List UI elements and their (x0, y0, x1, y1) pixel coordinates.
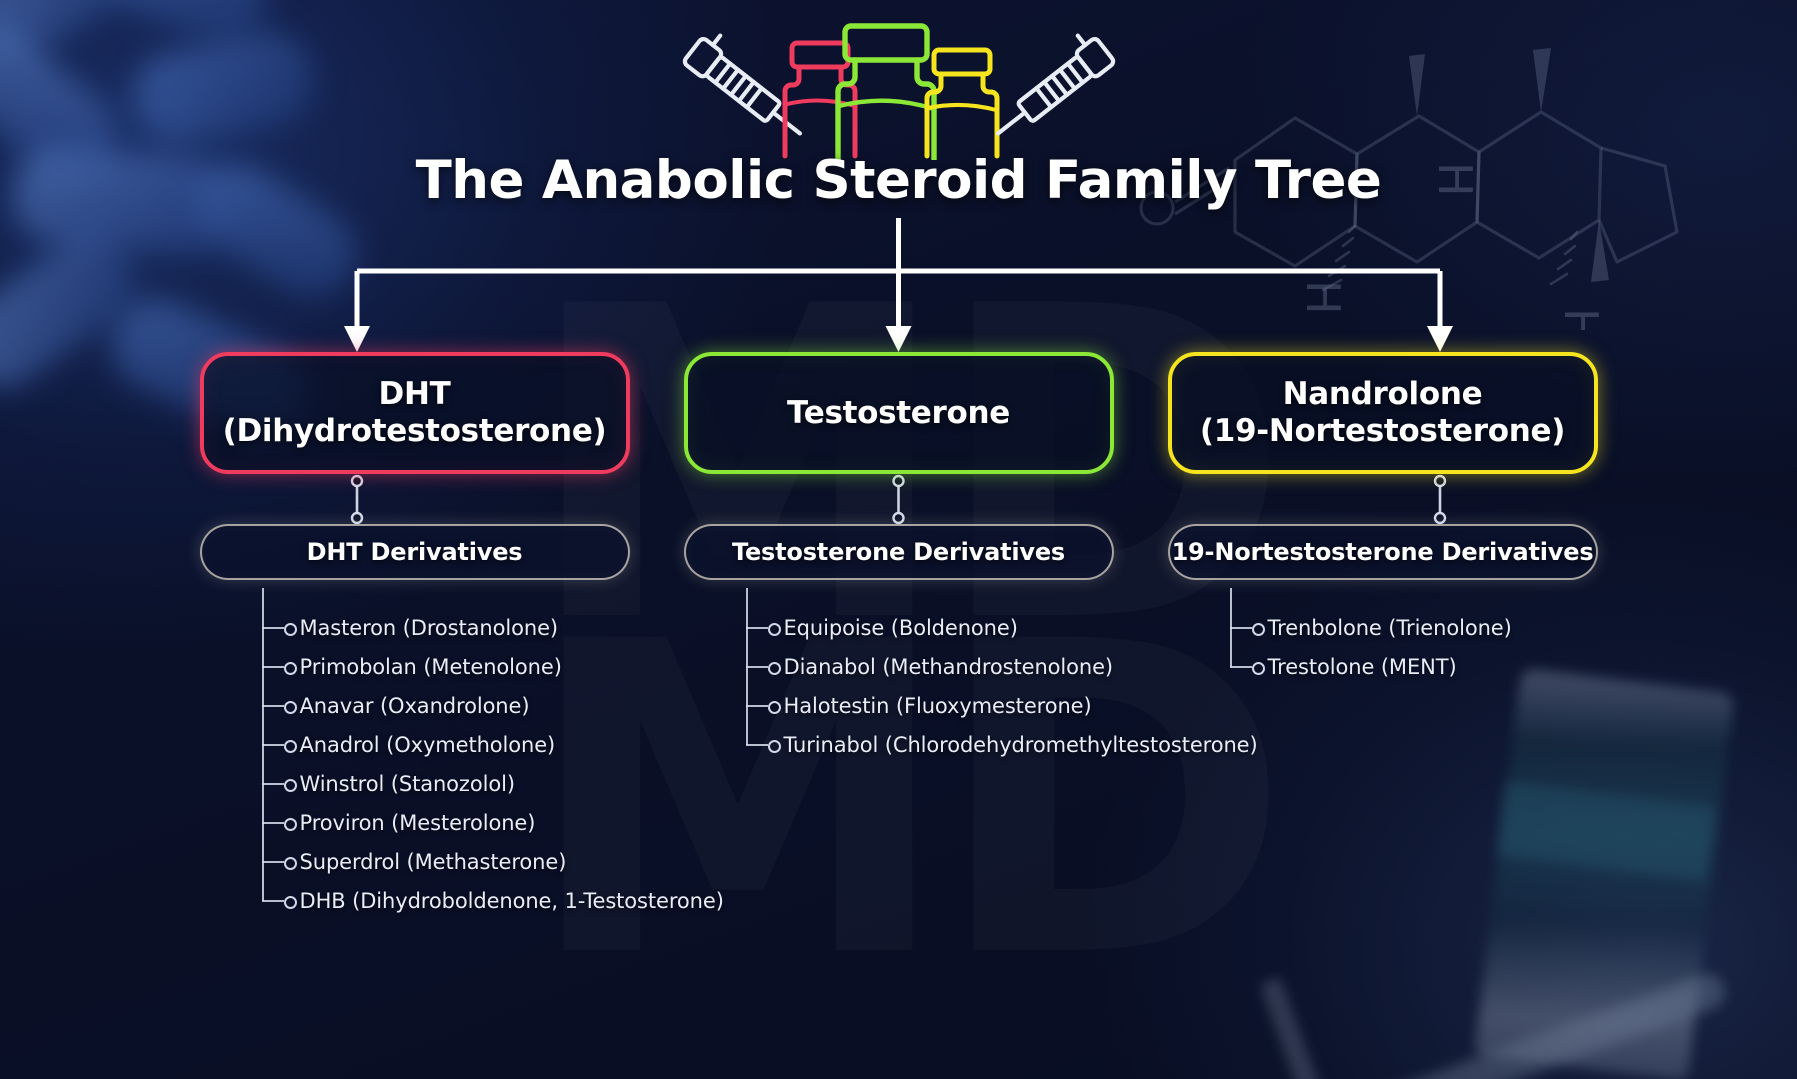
list-item[interactable]: Turinabol (Chlorodehydromethyltestostero… (684, 725, 1114, 764)
svg-text:H: H (1296, 280, 1350, 315)
list-item-label: Masteron (Drostanolone) (300, 616, 558, 640)
list-item[interactable]: Proviron (Mesterolone) (200, 803, 630, 842)
list-item[interactable]: DHB (Dihydroboldenone, 1-Testosterone) (200, 881, 630, 920)
derivatives-pill-nandrolone[interactable]: 19-Nortestosterone Derivatives (1168, 524, 1598, 580)
list-item[interactable]: Trestolone (MENT) (1168, 647, 1598, 686)
category-title-dht: DHT (223, 376, 607, 413)
derivatives-pill-dht[interactable]: DHT Derivatives (200, 524, 630, 580)
category-box-nandrolone[interactable]: Nandrolone (19-Nortestosterone) (1168, 352, 1598, 474)
list-testosterone: Equipoise (Boldenone)Dianabol (Methandro… (684, 588, 1114, 764)
category-title-nandrolone: Nandrolone (1200, 376, 1565, 413)
list-nandrolone: Trenbolone (Trienolone)Trestolone (MENT) (1168, 588, 1598, 686)
category-subtitle-dht: (Dihydrotestosterone) (223, 413, 607, 450)
list-item-label: Trestolone (MENT) (1268, 655, 1457, 679)
syringe-right-icon (980, 28, 1114, 146)
list-item[interactable]: Anavar (Oxandrolone) (200, 686, 630, 725)
category-box-dht[interactable]: DHT (Dihydrotestosterone) (200, 352, 630, 474)
derivatives-list-testosterone: Equipoise (Boldenone)Dianabol (Methandro… (684, 588, 1114, 920)
derivatives-pill-row: DHT Derivatives Testosterone Derivatives… (0, 524, 1797, 580)
list-item-label: Winstrol (Stanozolol) (300, 772, 515, 796)
list-item[interactable]: Dianabol (Methandrostenolone) (684, 647, 1114, 686)
list-item-label: Superdrol (Methasterone) (300, 850, 567, 874)
category-subtitle-nandrolone: (19-Nortestosterone) (1200, 413, 1565, 450)
svg-text:H: H (1554, 308, 1608, 330)
derivatives-list-dht: Masteron (Drostanolone)Primobolan (Meten… (200, 588, 630, 920)
category-box-row: DHT (Dihydrotestosterone) Testosterone N… (0, 352, 1797, 474)
category-title-testosterone: Testosterone (787, 395, 1010, 432)
category-box-testosterone[interactable]: Testosterone (684, 352, 1114, 474)
derivatives-list-nandrolone: Trenbolone (Trienolone)Trestolone (MENT) (1168, 588, 1598, 920)
derivatives-pill-testosterone[interactable]: Testosterone Derivatives (684, 524, 1114, 580)
list-item-label: Equipoise (Boldenone) (784, 616, 1018, 640)
list-item[interactable]: Winstrol (Stanozolol) (200, 764, 630, 803)
list-item-label: Halotestin (Fluoxymesterone) (784, 694, 1092, 718)
vial-yellow-icon (927, 50, 997, 156)
list-item-label: Anavar (Oxandrolone) (300, 694, 530, 718)
list-item-label: Dianabol (Methandrostenolone) (784, 655, 1114, 679)
header-icon-cluster (669, 8, 1129, 160)
list-item[interactable]: Equipoise (Boldenone) (684, 608, 1114, 647)
list-item[interactable]: Anadrol (Oxymetholone) (200, 725, 630, 764)
page-title: The Anabolic Steroid Family Tree (0, 150, 1797, 211)
infographic-canvas: H H H MD MD (0, 0, 1797, 1079)
vial-red-icon (785, 43, 855, 156)
list-item[interactable]: Masteron (Drostanolone) (200, 608, 630, 647)
list-item[interactable]: Primobolan (Metenolone) (200, 647, 630, 686)
derivatives-lists-row: Masteron (Drostanolone)Primobolan (Meten… (0, 588, 1797, 920)
list-dht: Masteron (Drostanolone)Primobolan (Meten… (200, 588, 630, 920)
list-item[interactable]: Halotestin (Fluoxymesterone) (684, 686, 1114, 725)
list-item-label: DHB (Dihydroboldenone, 1-Testosterone) (300, 889, 724, 913)
list-item-label: Primobolan (Metenolone) (300, 655, 562, 679)
list-item-label: Proviron (Mesterolone) (300, 811, 536, 835)
list-item[interactable]: Superdrol (Methasterone) (200, 842, 630, 881)
list-item-label: Trenbolone (Trienolone) (1268, 616, 1512, 640)
list-item-label: Anadrol (Oxymetholone) (300, 733, 556, 757)
vial-green-icon (838, 26, 934, 160)
list-item[interactable]: Trenbolone (Trienolone) (1168, 608, 1598, 647)
